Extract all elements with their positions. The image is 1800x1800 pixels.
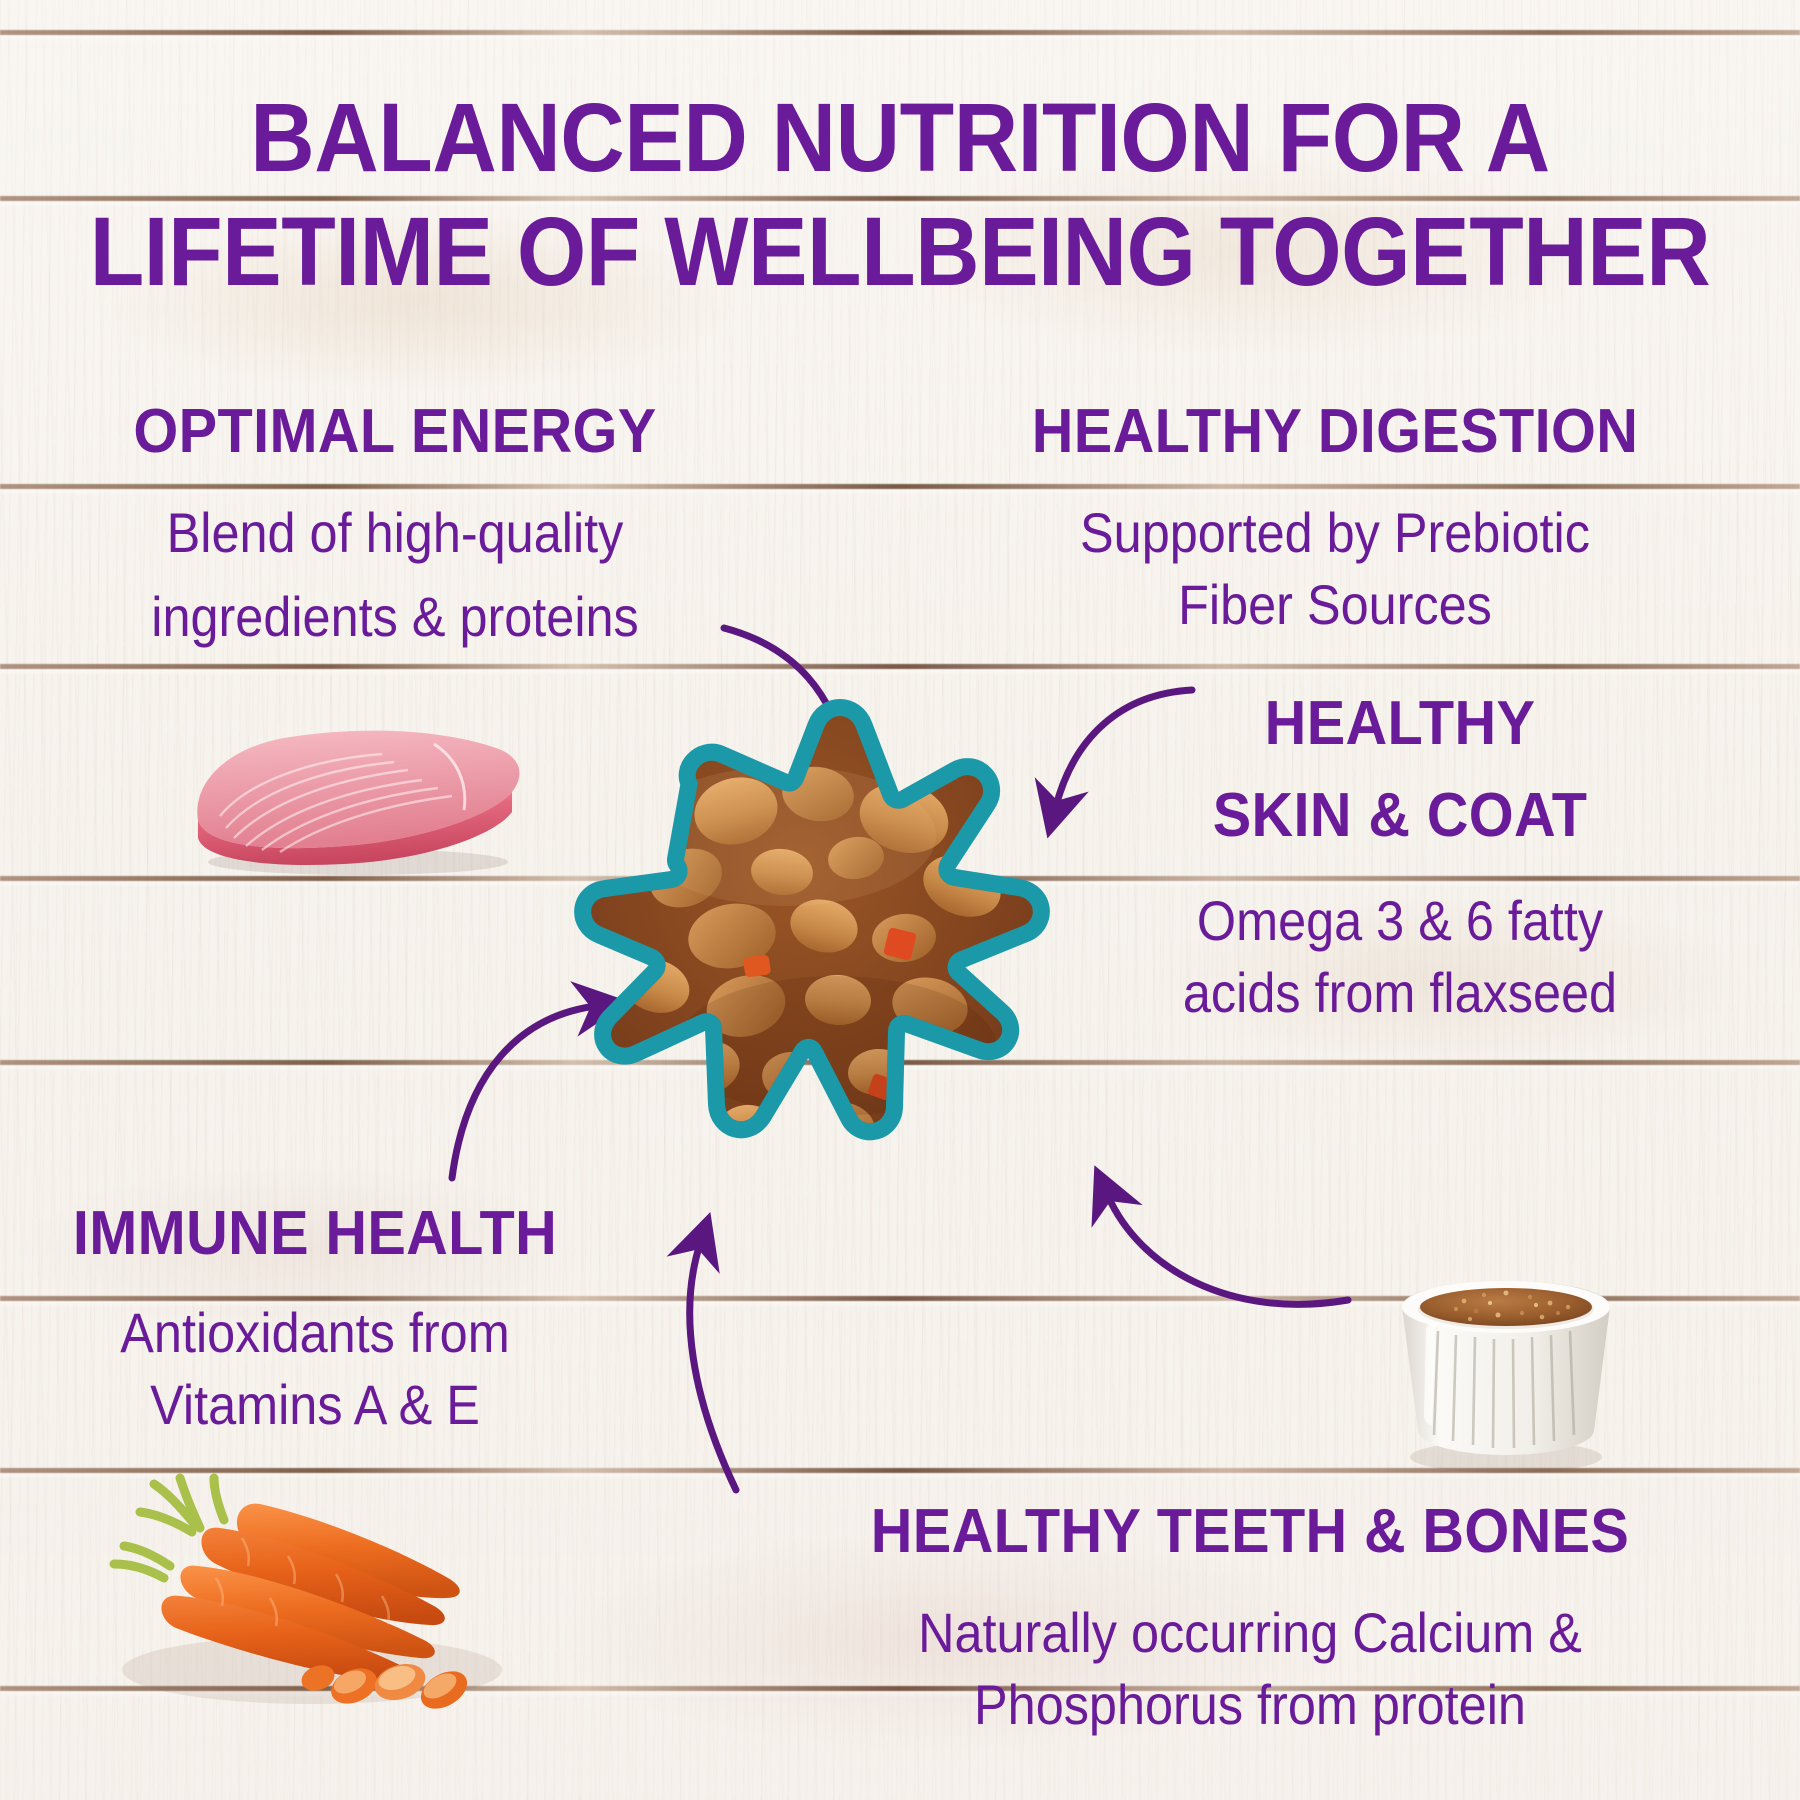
carrot-dice (743, 954, 772, 977)
benefit-body-optimal-energy-line-2: ingredients & proteins (40, 584, 751, 650)
benefit-heading-healthy-teeth-and-bones: HEALTHY TEETH & BONES (739, 1498, 1762, 1566)
infographic-canvas: BALANCED NUTRITION FOR A LIFETIME OF WEL… (0, 0, 1800, 1800)
benefit-body-optimal-energy-line-1: Blend of high-quality (40, 500, 751, 566)
benefit-body-healthy-digestion-line-2: Fiber Sources (917, 572, 1754, 638)
center-product-star (586, 686, 1056, 1166)
plank-seam (0, 664, 1800, 669)
flaxseed-bowl-photo (1380, 1245, 1630, 1485)
wet-food-photo (566, 666, 1086, 1196)
page-title-line-2: LIFETIME OF WELLBEING TOGETHER (72, 198, 1728, 306)
plank-seam (0, 484, 1800, 489)
benefit-body-immune-health-line-1: Antioxidants from (32, 1300, 599, 1366)
carrots-photo (92, 1470, 532, 1760)
benefit-heading-healthy-digestion: HEALTHY DIGESTION (903, 398, 1768, 466)
benefit-heading-healthy-skin-and-coat-line-1: HEALTHY (1028, 690, 1772, 758)
plank-seam (0, 30, 1800, 35)
benefit-heading-optimal-energy: OPTIMAL ENERGY (28, 398, 763, 466)
benefit-body-healthy-teeth-and-bones-line-2: Phosphorus from protein (755, 1672, 1745, 1738)
carrot-greens (114, 1478, 224, 1578)
tuna-steak-photo (176, 700, 528, 875)
benefit-body-healthy-digestion-line-1: Supported by Prebiotic (917, 500, 1754, 566)
star-teal-outline (586, 686, 1056, 1166)
page-title-line-1: BALANCED NUTRITION FOR A (72, 84, 1728, 192)
benefit-heading-immune-health: IMMUNE HEALTH (22, 1200, 608, 1268)
benefit-body-healthy-skin-and-coat-line-1: Omega 3 & 6 fatty (1040, 888, 1760, 954)
benefit-body-immune-health-line-2: Vitamins A & E (32, 1372, 599, 1438)
benefit-body-healthy-skin-and-coat-line-2: acids from flaxseed (1040, 960, 1760, 1026)
carrot-dice (770, 1116, 795, 1138)
benefit-heading-healthy-skin-and-coat-line-2: SKIN & COAT (1028, 782, 1772, 850)
benefit-body-healthy-teeth-and-bones-line-1: Naturally occurring Calcium & (755, 1600, 1745, 1666)
